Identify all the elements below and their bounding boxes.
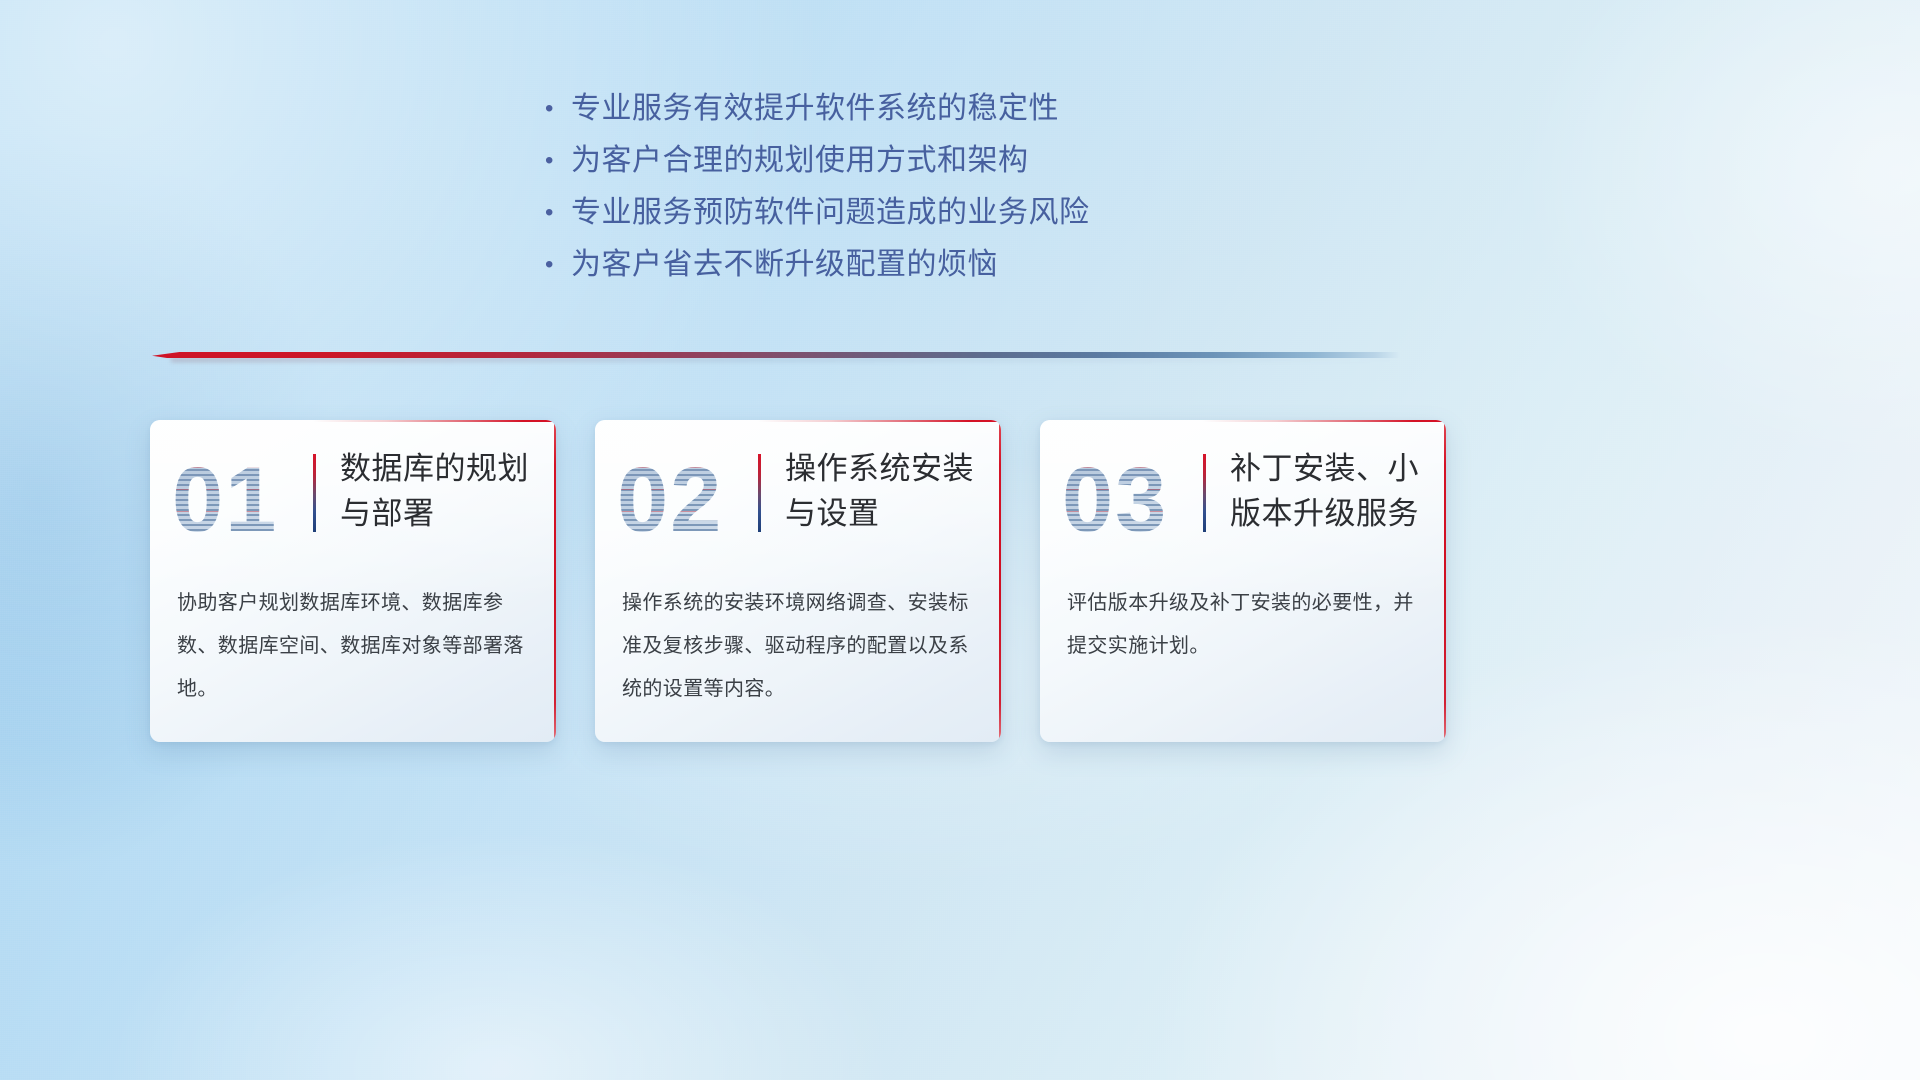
bullet-item: • 专业服务有效提升软件系统的稳定性 [545,90,1090,142]
section-divider [152,348,1400,362]
card-title: 数据库的规划与部署 [340,446,548,536]
service-card-03[interactable]: 03 03 补丁安装、小版本升级服务 评估版本升级及补丁安装的必要性，并提交实施… [1040,420,1446,742]
bullet-item: • 为客户省去不断升级配置的烦恼 [545,246,1090,298]
section-divider-line [152,352,1400,358]
card-title-rule [758,454,761,532]
bullet-item-label: 为客户省去不断升级配置的烦恼 [571,246,998,284]
bullet-item-label: 为客户合理的规划使用方式和架构 [571,142,1029,180]
bullet-dot-icon: • [545,246,571,284]
card-title-rule [313,454,316,532]
bullet-item-label: 专业服务预防软件问题造成的业务风险 [571,194,1090,232]
card-description: 协助客户规划数据库环境、数据库参数、数据库空间、数据库对象等部署落地。 [177,582,533,711]
card-header: 01 01 数据库的规划与部署 [150,448,556,560]
card-title: 补丁安装、小版本升级服务 [1230,446,1438,536]
card-header: 03 03 补丁安装、小版本升级服务 [1040,448,1446,560]
bullet-item: • 专业服务预防软件问题造成的业务风险 [545,194,1090,246]
bullet-item-label: 专业服务有效提升软件系统的稳定性 [571,90,1059,128]
bullet-dot-icon: • [545,194,571,232]
card-title: 操作系统安装与设置 [785,446,993,536]
card-description: 操作系统的安装环境网络调查、安装标准及复核步骤、驱动程序的配置以及系统的设置等内… [622,582,978,711]
service-card-02[interactable]: 02 02 操作系统安装与设置 操作系统的安装环境网络调查、安装标准及复核步骤、… [595,420,1001,742]
card-top-accent-line [595,420,1001,422]
card-top-accent-line [1040,420,1446,422]
bullet-item: • 为客户合理的规划使用方式和架构 [545,142,1090,194]
bullet-dot-icon: • [545,90,571,128]
card-number-watermark-tint: 02 [617,444,723,556]
benefits-bullet-list: • 专业服务有效提升软件系统的稳定性 • 为客户合理的规划使用方式和架构 • 专… [545,90,1090,298]
card-description: 评估版本升级及补丁安装的必要性，并提交实施计划。 [1067,582,1423,668]
card-number-watermark-tint: 03 [1062,444,1168,556]
service-card-01[interactable]: 01 01 数据库的规划与部署 协助客户规划数据库环境、数据库参数、数据库空间、… [150,420,556,742]
bullet-dot-icon: • [545,142,571,180]
card-top-accent-line [150,420,556,422]
card-title-rule [1203,454,1206,532]
section-divider-shadow [171,358,1400,362]
card-number-watermark-tint: 01 [172,444,278,556]
card-header: 02 02 操作系统安装与设置 [595,448,1001,560]
